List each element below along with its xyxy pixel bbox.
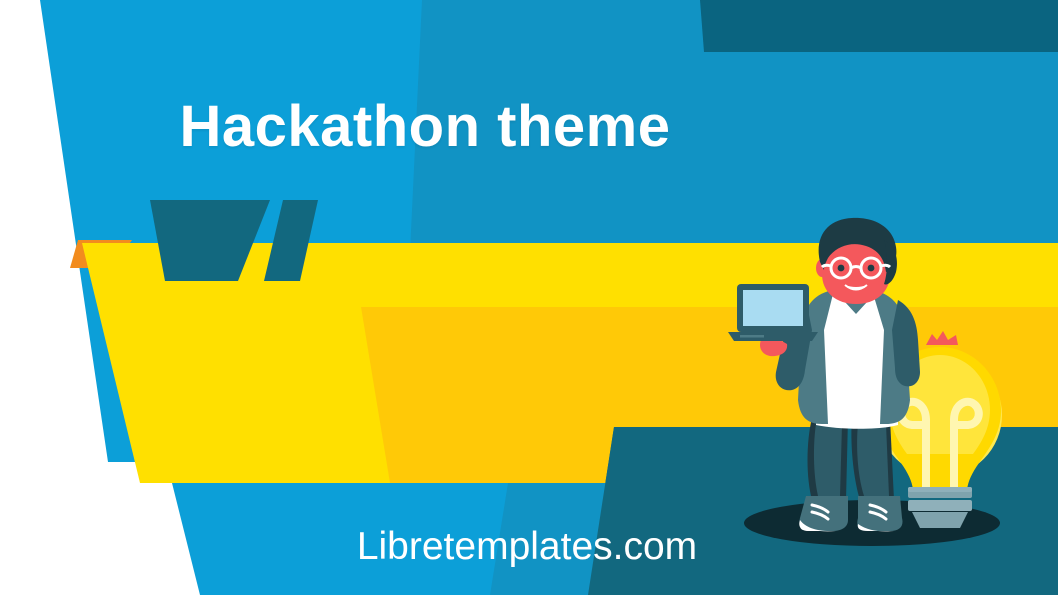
developer-character-illustration bbox=[0, 0, 1058, 595]
laptop-icon bbox=[728, 284, 818, 341]
page-title: Hackathon theme bbox=[0, 93, 1058, 160]
character-head bbox=[816, 218, 897, 304]
footer-brand: Libretemplates.com bbox=[0, 525, 1058, 569]
character-legs bbox=[808, 418, 895, 500]
slide-canvas: Hackathon theme Libretemplates.com bbox=[0, 0, 1058, 595]
